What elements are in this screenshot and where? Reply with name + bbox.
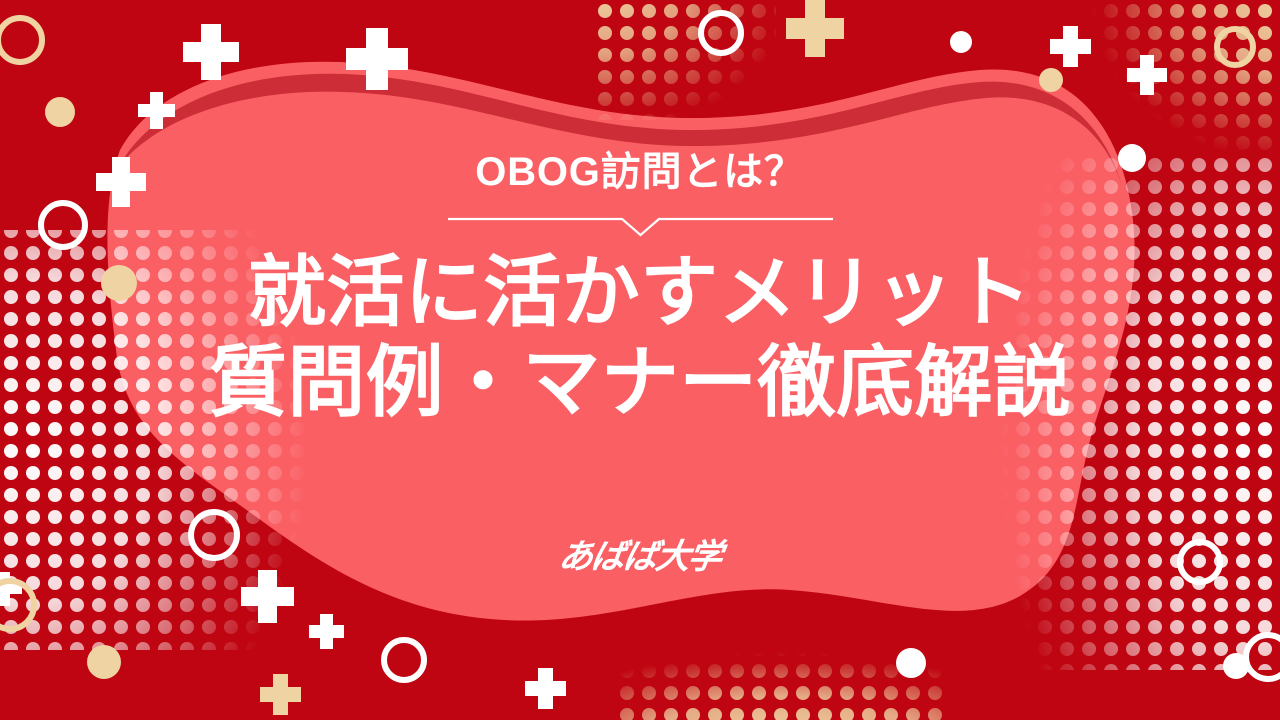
banner-title-line-2: 質問例・マナー徹底解説 — [209, 338, 1071, 428]
brand-logo-text: あばば大学 — [557, 540, 723, 574]
brand-logo: あばば大学 — [0, 540, 1280, 574]
divider-with-notch — [448, 214, 833, 238]
banner-title: 就活に活かすメリット 質問例・マナー徹底解説 — [209, 248, 1071, 429]
banner-content: OBOG訪問とは？ 就活に活かすメリット 質問例・マナー徹底解説 あばば大学 — [0, 0, 1280, 720]
banner-title-line-1: 就活に活かすメリット — [209, 248, 1071, 338]
banner-canvas: OBOG訪問とは？ 就活に活かすメリット 質問例・マナー徹底解説 あばば大学 — [0, 0, 1280, 720]
banner-subtitle: OBOG訪問とは？ — [475, 150, 804, 194]
